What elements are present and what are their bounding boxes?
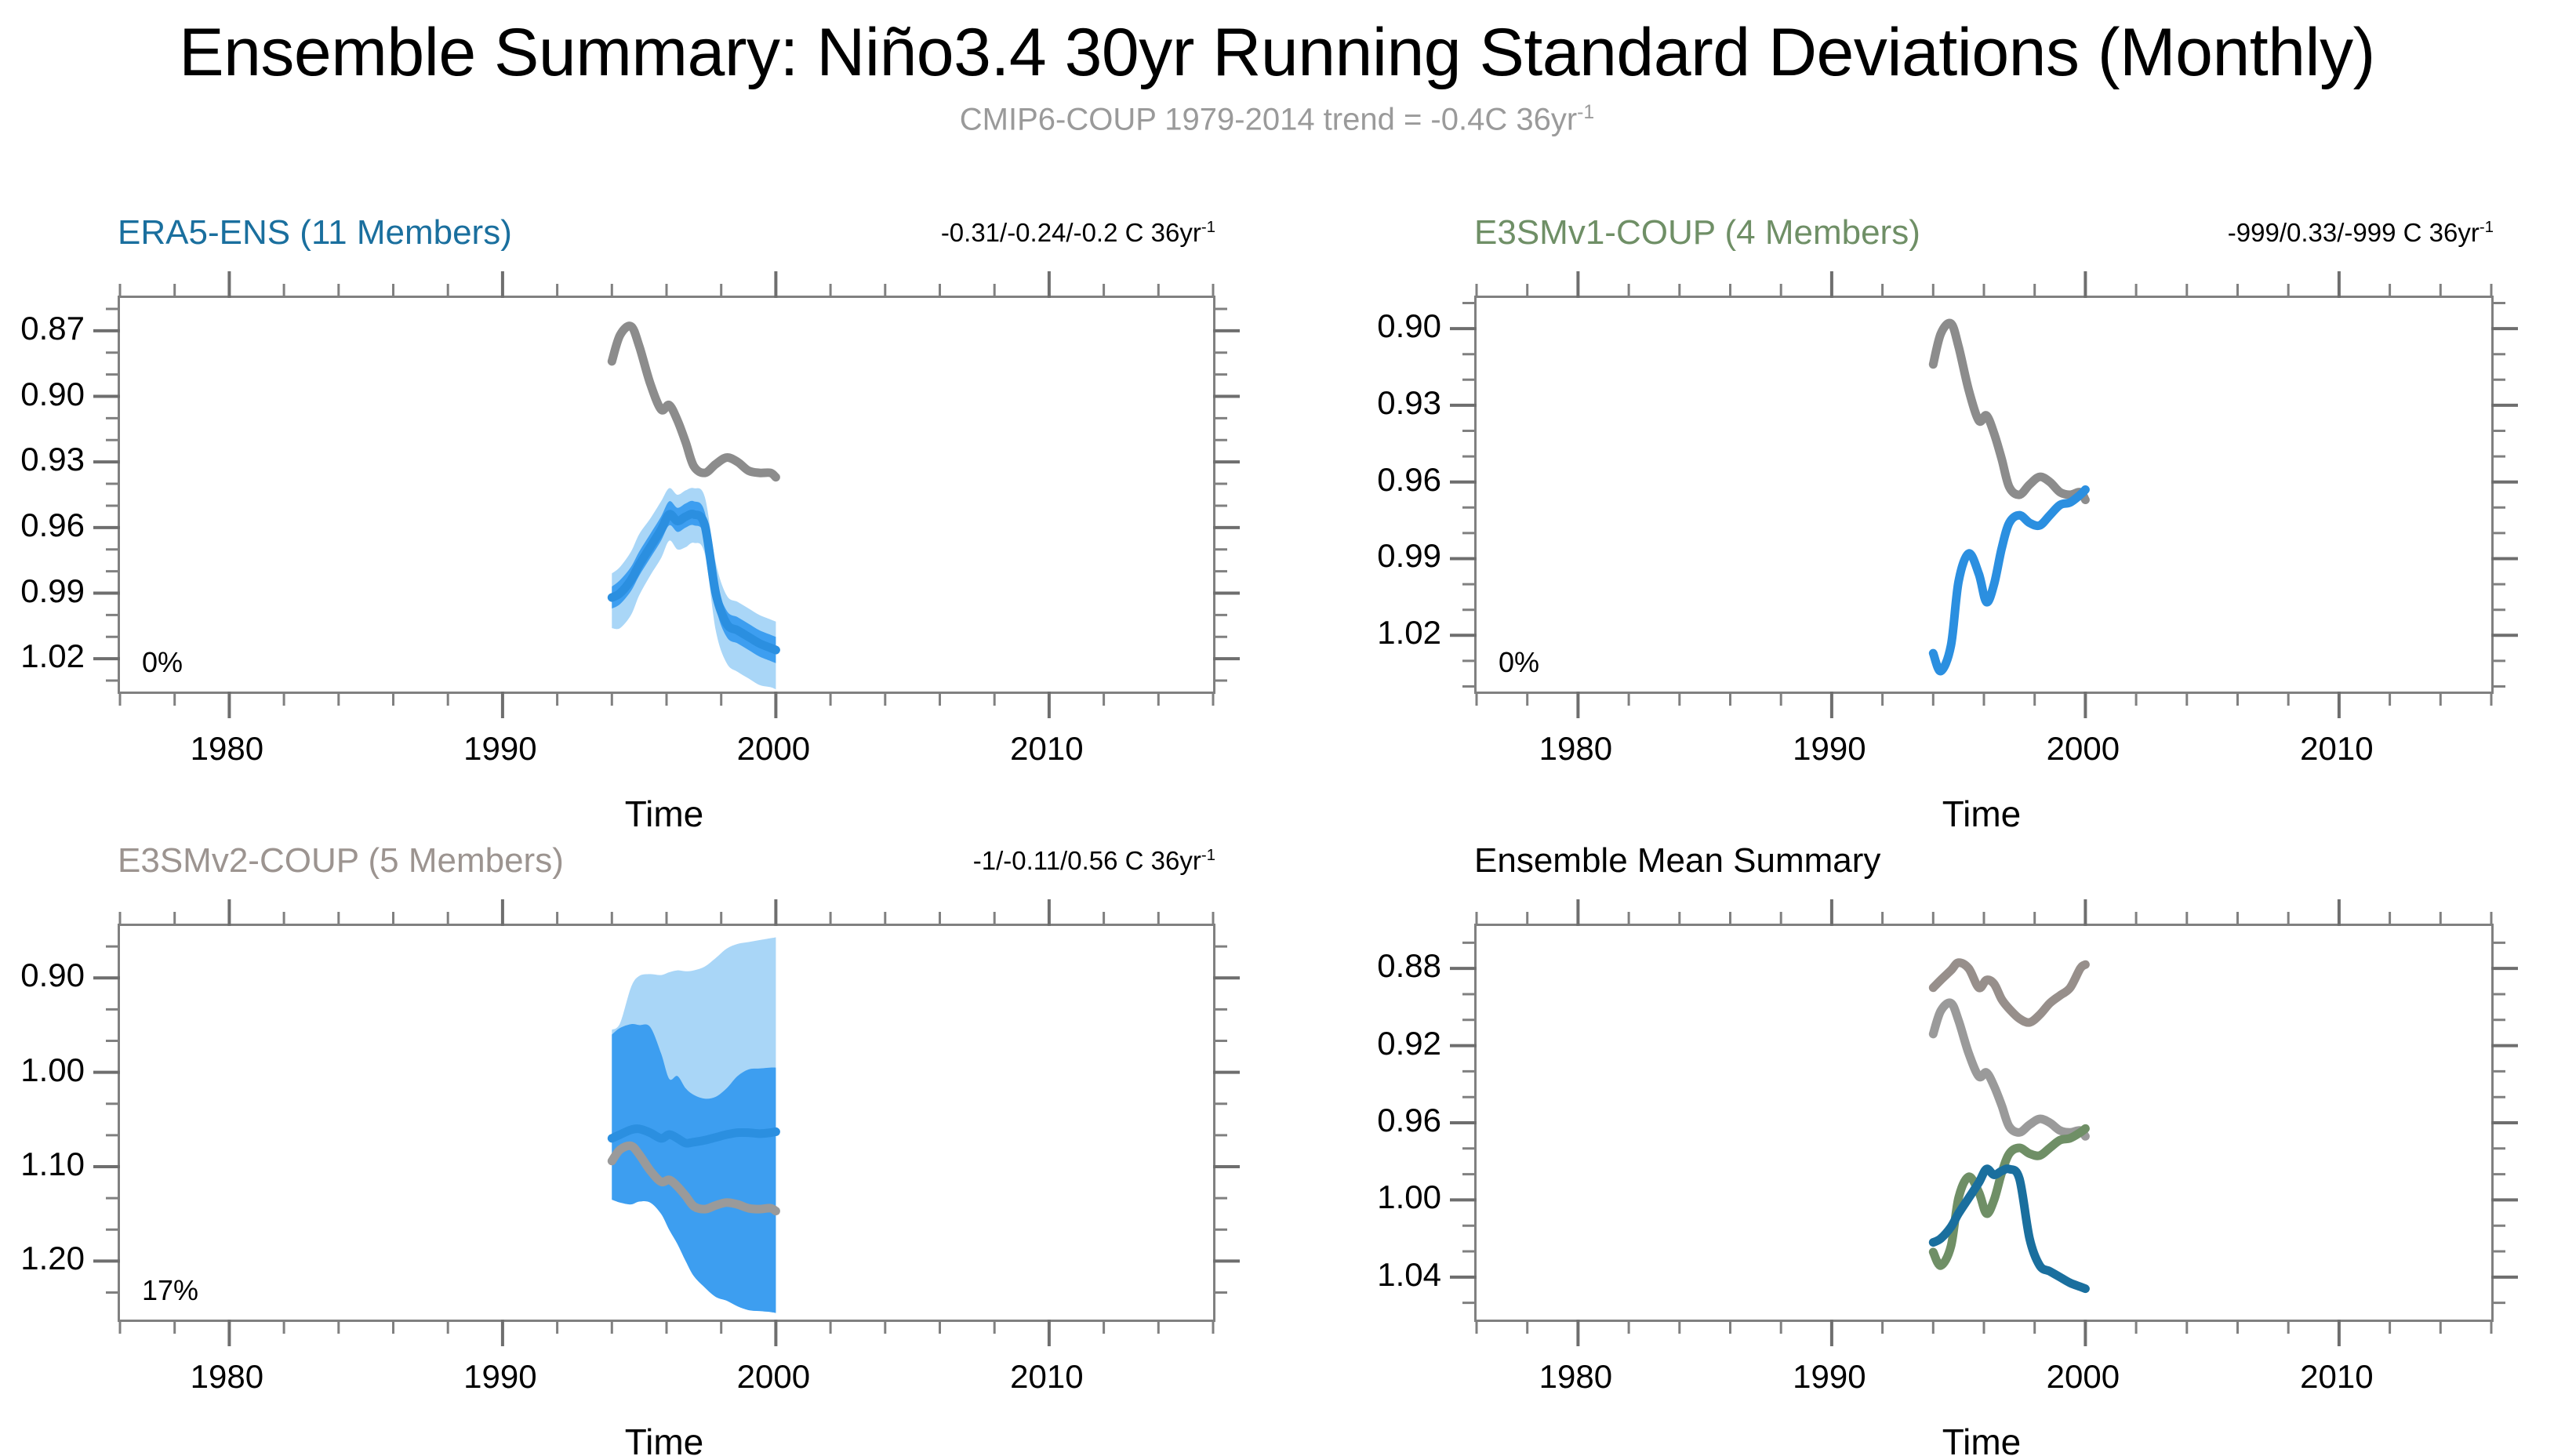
coverage-pct-era5-ens: 0% bbox=[142, 646, 183, 679]
line-observations bbox=[1933, 323, 2085, 500]
x-tick-label: 1990 bbox=[1793, 1358, 1866, 1396]
x-tick-label: 1980 bbox=[191, 1358, 263, 1396]
y-tick-label: 0.96 bbox=[1377, 461, 1441, 499]
trend-value: -1/-0.11/0.56 C 36yr bbox=[973, 846, 1201, 875]
y-tick-label: 0.90 bbox=[20, 376, 85, 413]
y-tick-label: 0.96 bbox=[1377, 1102, 1441, 1139]
plot-content-e3smv2-coup-5-members- bbox=[120, 926, 1213, 1320]
trend-superscript: -1 bbox=[1201, 218, 1215, 236]
y-tick-label: 0.93 bbox=[1377, 384, 1441, 422]
y-tick-label: 0.99 bbox=[20, 572, 85, 610]
panel-e3smv1-coup: E3SMv1-COUP (4 Members) -999/0.33/-999 C… bbox=[1474, 213, 2494, 793]
figure-subtitle-text: CMIP6-COUP 1979-2014 trend = -0.4C 36yr bbox=[960, 102, 1577, 136]
line-ensemble-mean bbox=[1933, 489, 2085, 671]
line-observations bbox=[1933, 1003, 2085, 1136]
panel-title-era5-ens: ERA5-ENS (11 Members) bbox=[118, 213, 512, 252]
trend-superscript: -1 bbox=[2480, 218, 2494, 236]
x-tick-label: 2010 bbox=[1010, 730, 1083, 768]
line-e3smv1-coup-mean bbox=[1933, 1128, 2085, 1265]
x-tick-label: 2010 bbox=[2300, 1358, 2373, 1396]
panel-trend-e3smv1-coup: -999/0.33/-999 C 36yr-1 bbox=[2228, 218, 2494, 248]
panel-era5-ens: ERA5-ENS (11 Members) -0.31/-0.24/-0.2 C… bbox=[118, 213, 1215, 793]
x-tick-label: 1990 bbox=[1793, 730, 1866, 768]
y-tick-label: 1.04 bbox=[1377, 1256, 1441, 1294]
y-tick-label: 0.93 bbox=[20, 441, 85, 478]
x-tick-label: 1990 bbox=[463, 730, 536, 768]
figure-subtitle-superscript: -1 bbox=[1577, 102, 1594, 123]
x-tick-label: 1980 bbox=[1539, 1358, 1612, 1396]
panel-ensemble-mean-summary: Ensemble Mean Summary 1.041.000.960.920.… bbox=[1474, 841, 2494, 1422]
panel-title-e3smv1-coup: E3SMv1-COUP (4 Members) bbox=[1474, 213, 1920, 252]
x-tick-label: 2010 bbox=[1010, 1358, 1083, 1396]
x-axis-title: Time bbox=[1942, 1421, 2022, 1456]
x-tick-label: 1990 bbox=[463, 1358, 536, 1396]
x-axis-title: Time bbox=[625, 793, 704, 835]
panel-e3smv2-coup: E3SMv2-COUP (5 Members) -1/-0.11/0.56 C … bbox=[118, 841, 1215, 1422]
coverage-pct-e3smv2-coup: 17% bbox=[142, 1274, 198, 1307]
plot-area-e3smv2-coup[interactable]: 17% bbox=[118, 924, 1215, 1322]
x-tick-label: 2000 bbox=[2047, 1358, 2120, 1396]
coverage-pct-e3smv1-coup: 0% bbox=[1499, 646, 1539, 679]
figure-title-text: Ensemble Summary: Niño3.4 30yr Running S… bbox=[179, 15, 2375, 90]
trend-value: -999/0.33/-999 C 36yr bbox=[2228, 218, 2480, 247]
line-observations bbox=[612, 326, 776, 477]
plot-area-ensemble-mean-summary[interactable] bbox=[1474, 924, 2494, 1322]
plot-content-e3smv1-coup-4-members- bbox=[1477, 298, 2491, 692]
y-tick-label: 1.00 bbox=[20, 1051, 85, 1089]
panel-title-ensemble-mean-summary: Ensemble Mean Summary bbox=[1474, 841, 1880, 880]
y-tick-label: 0.87 bbox=[20, 310, 85, 347]
panel-trend-era5-ens: -0.31/-0.24/-0.2 C 36yr-1 bbox=[941, 218, 1215, 248]
trend-superscript: -1 bbox=[1201, 846, 1215, 864]
trend-value: -0.31/-0.24/-0.2 C 36yr bbox=[941, 218, 1201, 247]
y-tick-label: 0.99 bbox=[1377, 537, 1441, 575]
y-tick-label: 0.92 bbox=[1377, 1025, 1441, 1062]
y-tick-label: 1.00 bbox=[1377, 1178, 1441, 1216]
x-tick-label: 1980 bbox=[1539, 730, 1612, 768]
y-tick-label: 1.02 bbox=[1377, 614, 1441, 652]
figure-root: Ensemble Summary: Niño3.4 30yr Running S… bbox=[0, 0, 2554, 1456]
figure-subtitle: CMIP6-COUP 1979-2014 trend = -0.4C 36yr-… bbox=[0, 102, 2554, 137]
y-tick-label: 0.88 bbox=[1377, 947, 1441, 985]
page-title: Ensemble Summary: Niño3.4 30yr Running S… bbox=[0, 14, 2554, 92]
panel-trend-e3smv2-coup: -1/-0.11/0.56 C 36yr-1 bbox=[973, 846, 1215, 876]
x-axis-title: Time bbox=[625, 1421, 704, 1456]
y-tick-label: 1.02 bbox=[20, 637, 85, 675]
y-tick-label: 0.96 bbox=[20, 507, 85, 544]
panel-title-e3smv2-coup: E3SMv2-COUP (5 Members) bbox=[118, 841, 564, 880]
x-tick-label: 2000 bbox=[737, 1358, 810, 1396]
y-tick-label: 0.90 bbox=[20, 957, 85, 994]
plot-area-era5-ens[interactable]: 0% bbox=[118, 296, 1215, 694]
x-tick-label: 2000 bbox=[2047, 730, 2120, 768]
x-axis-title: Time bbox=[1942, 793, 2022, 835]
x-tick-label: 2010 bbox=[2300, 730, 2373, 768]
x-tick-label: 2000 bbox=[737, 730, 810, 768]
plot-content-ensemble-mean-summary bbox=[1477, 926, 2491, 1320]
y-tick-label: 0.90 bbox=[1377, 307, 1441, 345]
plot-content-era5-ens-11-members- bbox=[120, 298, 1213, 692]
y-tick-label: 1.10 bbox=[20, 1146, 85, 1183]
x-tick-label: 1980 bbox=[191, 730, 263, 768]
plot-area-e3smv1-coup[interactable]: 0% bbox=[1474, 296, 2494, 694]
y-tick-label: 1.20 bbox=[20, 1240, 85, 1277]
